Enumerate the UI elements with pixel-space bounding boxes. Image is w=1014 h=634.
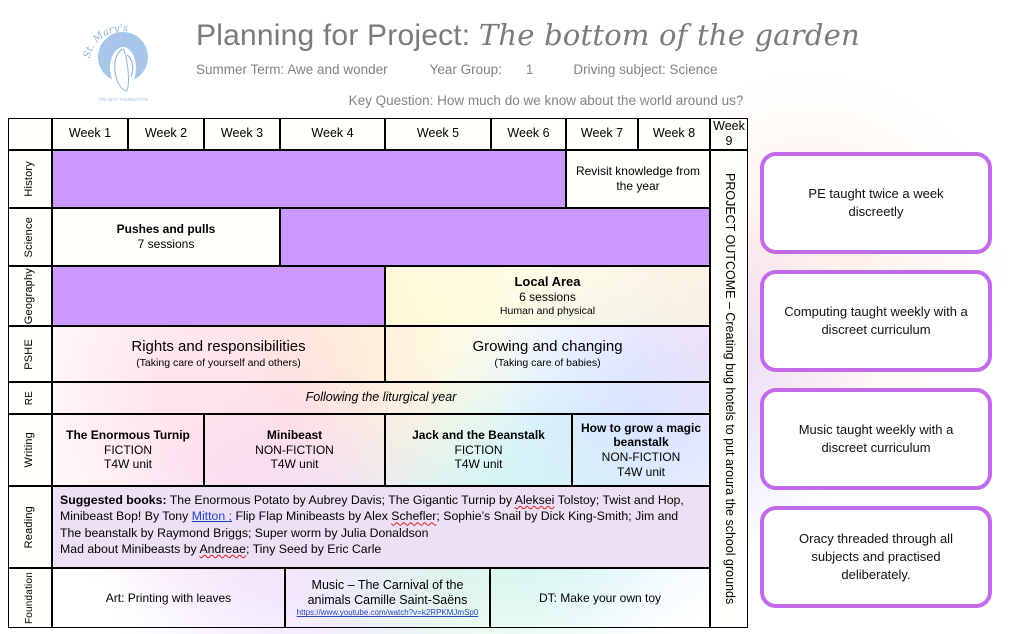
- writing-unit-3: T4W unit: [412, 457, 545, 472]
- writing-title-3: Jack and the Beanstalk: [412, 428, 545, 443]
- row-label-foundation: Foundation: [8, 568, 52, 628]
- row-label-re: RE: [8, 382, 52, 414]
- column-header-week-4: Week 4: [280, 118, 385, 150]
- history-cell-revisit: Revisit knowledge from the year: [566, 150, 710, 208]
- writing-genre-4: NON-FICTION: [573, 450, 709, 465]
- geography-cell-topic: Local Area 6 sessions Human and physical: [385, 266, 710, 326]
- reading-misspelling-mitton: Mitton ;: [192, 509, 232, 523]
- reading-misspelling-andreae: Andreae: [199, 542, 246, 556]
- writing-genre-3: FICTION: [412, 443, 545, 458]
- writing-unit-2: T4W unit: [255, 457, 334, 472]
- history-cell-blank: [52, 150, 566, 208]
- column-header-week-2: Week 2: [128, 118, 204, 150]
- reading-text-3a: Mad about Minibeasts by: [60, 542, 199, 556]
- writing-cell-3: Jack and the Beanstalk FICTION T4W unit: [385, 414, 572, 486]
- reading-cell-suggested-books: Suggested books: The Enormous Potato by …: [52, 486, 710, 568]
- science-cell-blank: [280, 208, 710, 266]
- row-label-geography: Geography: [8, 266, 52, 326]
- column-header-week-7: Week 7: [566, 118, 638, 150]
- geography-topic-title: Local Area: [500, 274, 595, 290]
- pshe-unit-2-sub: (Taking care of babies): [472, 357, 622, 370]
- project-outcome-text: PROJECT OUTCOME – Creating bug hotels to…: [721, 173, 737, 604]
- row-label-history: History: [8, 150, 52, 208]
- callout-music: Music taught weekly with a discreet curr…: [760, 388, 992, 490]
- reading-misspelling-schefler: Schefler: [391, 509, 436, 523]
- callout-computing-text: Computing taught weekly with a discreet …: [780, 303, 972, 339]
- row-label-pshe: PSHE: [8, 326, 52, 382]
- project-outcome-column: PROJECT OUTCOME – Creating bug hotels to…: [710, 150, 748, 628]
- planning-grid: Week 1 Week 2 Week 3 Week 4 Week 5 Week …: [8, 118, 748, 628]
- geography-cell-blank: [52, 266, 385, 326]
- reading-label: Suggested books:: [60, 493, 167, 507]
- title-project-name: The bottom of the garden: [479, 18, 860, 52]
- page-title: Planning for Project: The bottom of the …: [196, 18, 896, 53]
- title-plain: Planning for Project:: [196, 19, 479, 52]
- year-group-label: Year Group:: [430, 62, 502, 77]
- column-header-week-9: Week 9: [710, 118, 748, 150]
- header-meta-row: Summer Term: Awe and wonderYear Group:1D…: [196, 62, 896, 77]
- reading-text-1a: The Enormous Potato by Aubrey Davis; The…: [167, 493, 515, 507]
- column-header-week-6: Week 6: [491, 118, 566, 150]
- row-label-reading: Reading: [8, 486, 52, 568]
- writing-cell-4: How to grow a magic beanstalk NON-FICTIO…: [572, 414, 710, 486]
- callout-music-text: Music taught weekly with a discreet curr…: [780, 421, 972, 457]
- callout-computing: Computing taught weekly with a discreet …: [760, 270, 992, 372]
- reading-text-3b: ; Tiny Seed by Eric Carle: [246, 542, 381, 556]
- science-topic-title: Pushes and pulls: [117, 222, 216, 237]
- year-group-value: 1: [526, 62, 534, 77]
- callout-oracy: Oracy threaded through all subjects and …: [760, 506, 992, 608]
- geography-topic-sessions: 6 sessions: [500, 290, 595, 305]
- foundation-music-link[interactable]: https://www.youtube.com/watch?v=k2RPKMJm…: [291, 608, 484, 618]
- reading-text-2b: Flip Flap Minibeasts by Alex: [232, 509, 391, 523]
- column-header-week-1: Week 1: [52, 118, 128, 150]
- driving-subject-label: Driving subject: Science: [573, 62, 717, 77]
- foundation-cell-art: Art: Printing with leaves: [52, 568, 285, 628]
- column-header-week-5: Week 5: [385, 118, 491, 150]
- geography-topic-detail: Human and physical: [500, 305, 595, 318]
- writing-title-4: How to grow a magic beanstalk: [573, 421, 709, 450]
- row-label-science: Science: [8, 208, 52, 266]
- pshe-unit-2-title: Growing and changing: [472, 338, 622, 356]
- writing-unit-4: T4W unit: [573, 465, 709, 480]
- key-question: Key Question: How much do we know about …: [196, 93, 896, 108]
- re-cell-liturgical: Following the liturgical year: [52, 382, 710, 414]
- callout-pe: PE taught twice a week discreetly: [760, 152, 992, 254]
- writing-genre-2: NON-FICTION: [255, 443, 334, 458]
- pshe-cell-unit-2: Growing and changing (Taking care of bab…: [385, 326, 710, 382]
- callout-pe-text: PE taught twice a week discreetly: [780, 185, 972, 221]
- writing-cell-1: The Enormous Turnip FICTION T4W unit: [52, 414, 204, 486]
- svg-text:THE BEST FOUNDATION: THE BEST FOUNDATION: [99, 97, 148, 102]
- grid-corner-cell: [8, 118, 52, 150]
- writing-title-2: Minibeast: [255, 428, 334, 443]
- foundation-cell-music: Music – The Carnival of the animals Cami…: [285, 568, 490, 628]
- pshe-unit-1-sub: (Taking care of yourself and others): [131, 357, 305, 370]
- science-topic-sessions: 7 sessions: [117, 237, 216, 252]
- reading-misspelling-aleksei: Aleksei: [515, 493, 555, 507]
- callout-oracy-text: Oracy threaded through all subjects and …: [780, 530, 972, 584]
- foundation-cell-dt: DT: Make your own toy: [490, 568, 710, 628]
- pshe-unit-1-title: Rights and responsibilities: [131, 338, 305, 356]
- writing-title-1: The Enormous Turnip: [66, 428, 190, 443]
- science-cell-topic: Pushes and pulls 7 sessions: [52, 208, 280, 266]
- column-header-week-8: Week 8: [638, 118, 710, 150]
- st-marys-school-logo: St. Mary's THE BEST FOUNDATION: [77, 13, 169, 105]
- row-label-writing: Writing: [8, 414, 52, 486]
- writing-cell-2: Minibeast NON-FICTION T4W unit: [204, 414, 385, 486]
- term-label: Summer Term: Awe and wonder: [196, 62, 388, 77]
- pshe-cell-unit-1: Rights and responsibilities (Taking care…: [52, 326, 385, 382]
- column-header-week-3: Week 3: [204, 118, 280, 150]
- foundation-music-text: Music – The Carnival of the animals Cami…: [291, 578, 484, 609]
- writing-unit-1: T4W unit: [66, 457, 190, 472]
- page-header: St. Mary's THE BEST FOUNDATION Planning …: [0, 0, 1014, 118]
- writing-genre-1: FICTION: [66, 443, 190, 458]
